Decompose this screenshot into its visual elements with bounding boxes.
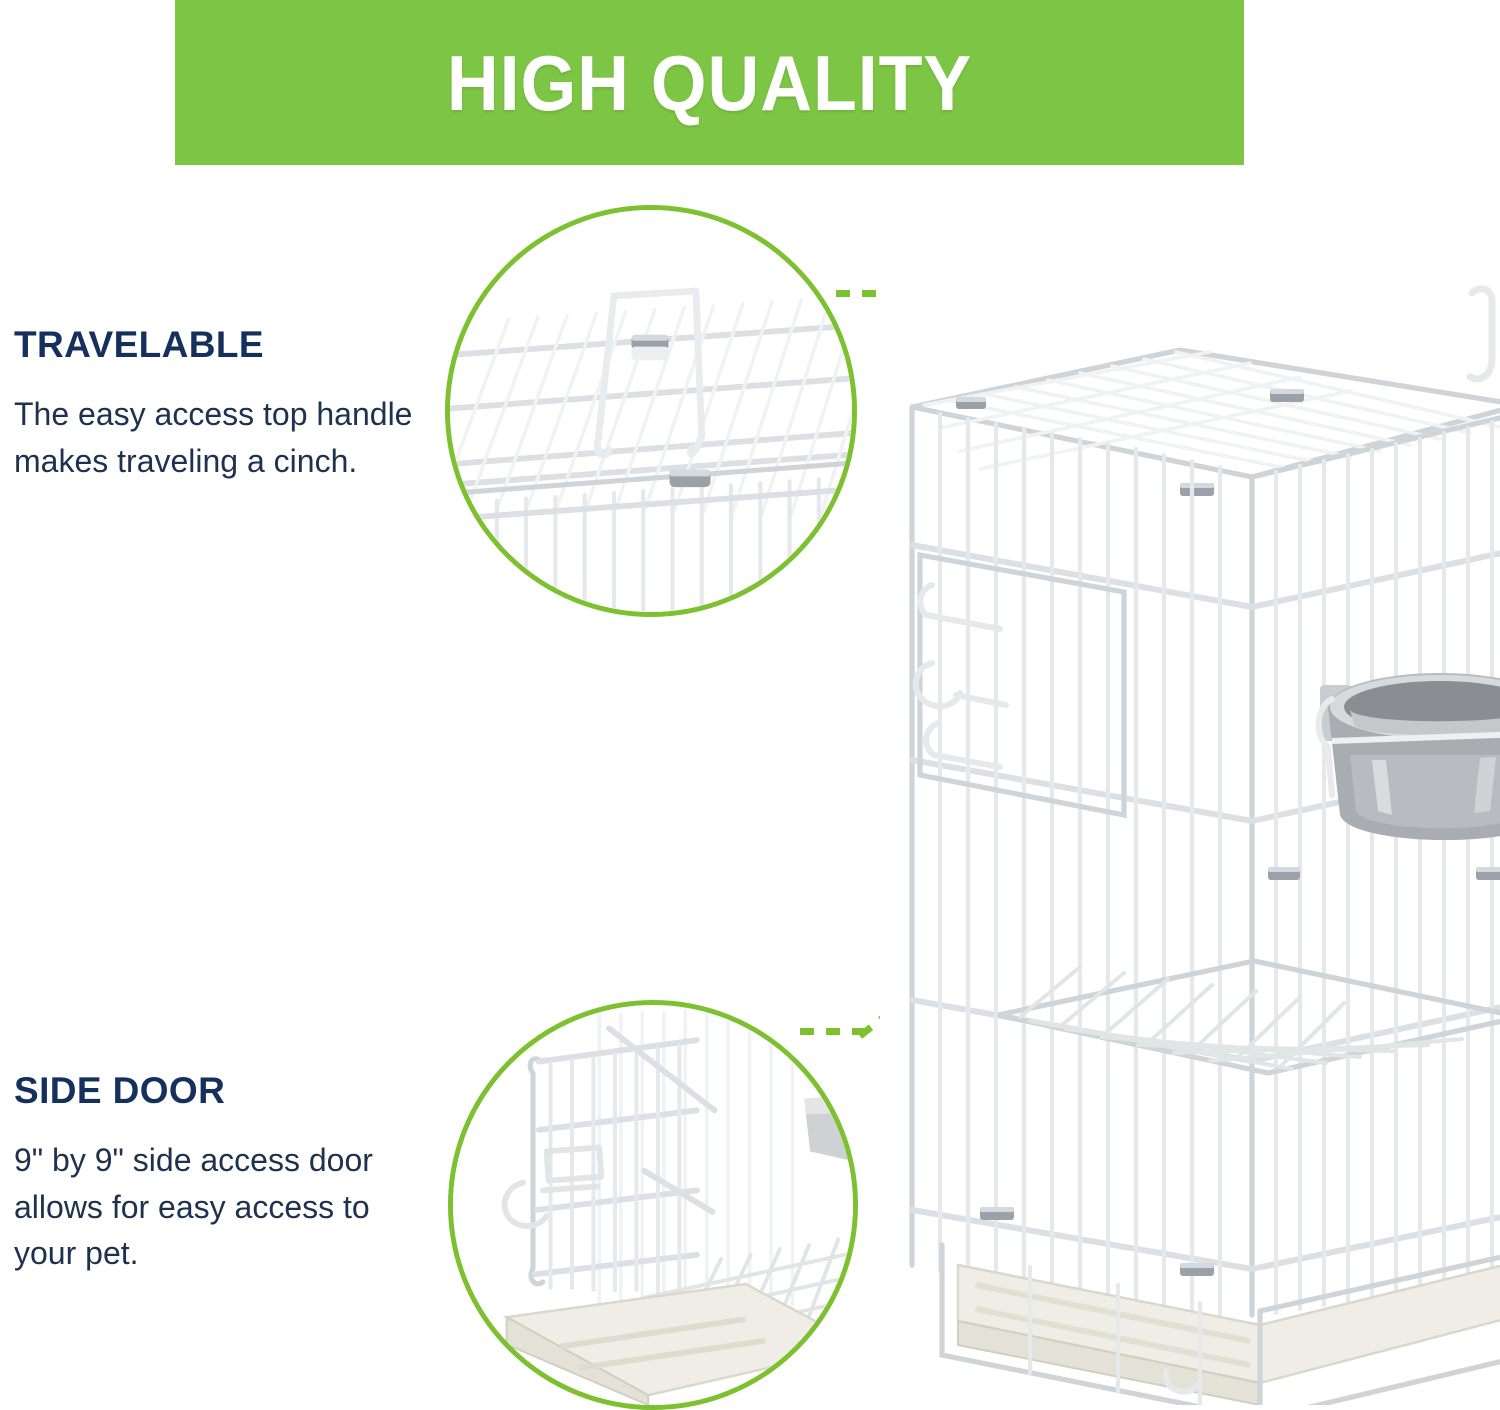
top-handle-closeup-image bbox=[450, 210, 852, 612]
stainless-steel-coop-cup bbox=[804, 1095, 853, 1161]
feature-block-side-door: SIDE DOOR 9" by 9" side access door allo… bbox=[14, 1072, 414, 1277]
chrome-clip bbox=[631, 335, 668, 360]
chrome-clip bbox=[1476, 867, 1500, 880]
feature-heading-side-door: SIDE DOOR bbox=[14, 1072, 414, 1111]
header-banner: HIGH QUALITY bbox=[175, 0, 1244, 165]
feature-block-travelable: TRAVELABLE The easy access top handle ma… bbox=[14, 326, 414, 484]
feature-heading-travelable: TRAVELABLE bbox=[14, 326, 414, 365]
main-product-image bbox=[880, 255, 1500, 1405]
page-title: HIGH QUALITY bbox=[447, 44, 972, 122]
feature-body-side-door: 9" by 9" side access door allows for eas… bbox=[14, 1137, 414, 1277]
callout-circle-side-door bbox=[448, 1000, 858, 1410]
chrome-clip bbox=[1268, 867, 1300, 880]
chrome-clip bbox=[956, 397, 986, 409]
side-door-closeup-image bbox=[453, 1005, 853, 1405]
callout-circle-top-handle bbox=[445, 205, 857, 617]
chrome-clip bbox=[1180, 1263, 1214, 1276]
chrome-clip bbox=[670, 470, 711, 488]
chrome-clip bbox=[1270, 389, 1304, 402]
feature-body-travelable: The easy access top handle makes traveli… bbox=[14, 391, 414, 484]
chrome-clip bbox=[1180, 483, 1214, 496]
stainless-steel-coop-cup-main bbox=[1319, 673, 1500, 840]
chrome-clip bbox=[980, 1207, 1014, 1220]
